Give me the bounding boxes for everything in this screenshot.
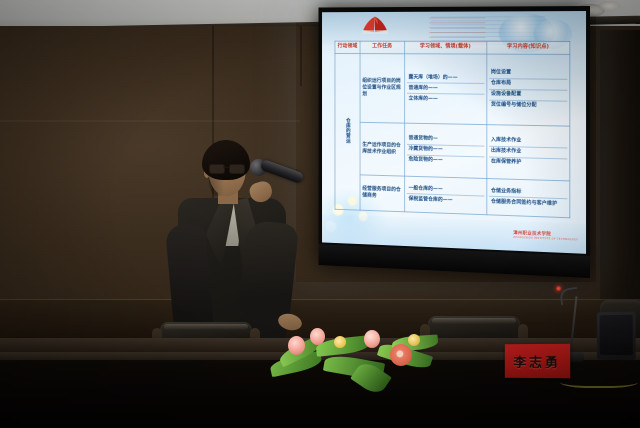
projection-screen-surface: 行动领域 工作任务 学习领域、情境(载体) 学习内容(知识点) 仓库的营运 组织… bbox=[322, 11, 586, 254]
situation-cell: 露天库（堆场）的—— 普通库的—— 立体库的—— bbox=[404, 54, 486, 125]
yellow-accent-flower bbox=[408, 334, 420, 346]
header-action-field: 行动领域 bbox=[335, 41, 360, 53]
eyeglass-lens-right bbox=[229, 164, 245, 174]
situation-cell: 一般仓库的—— 保税监管仓库的—— bbox=[404, 176, 486, 215]
knowledge-item: 在库保管养护 bbox=[489, 157, 567, 169]
rose-flower bbox=[364, 330, 380, 348]
situation-item: 保税监管仓库的—— bbox=[407, 194, 485, 206]
header-work-task: 工作任务 bbox=[360, 41, 404, 54]
task-cell: 组织运行项目的岗位设置与作业区规划 bbox=[360, 54, 404, 123]
name-card-text: 李志勇 bbox=[513, 351, 561, 370]
situation-item: 危险货物的—— bbox=[407, 155, 485, 167]
conference-presentation-photo: 行动领域 工作任务 学习领域、情境(载体) 学习内容(知识点) 仓库的营运 组织… bbox=[0, 0, 640, 428]
handheld-microphone-body-icon bbox=[259, 159, 304, 184]
red-book-flame-logo-icon bbox=[360, 16, 391, 37]
situation-cell: 普通货物的— 冷藏货物的—— 危险货物的—— bbox=[404, 123, 486, 178]
floral-arrangement bbox=[268, 330, 448, 386]
knowledge-item: 岗位设置 bbox=[489, 68, 567, 79]
yellow-accent-flower bbox=[334, 336, 346, 348]
knowledge-item: 货位编号与储位分配 bbox=[489, 101, 567, 112]
wall-panel-seam bbox=[0, 120, 300, 122]
eyeglasses-icon bbox=[209, 164, 245, 172]
slide-decorative-red-lines bbox=[429, 17, 485, 42]
vertical-title-cell: 仓库的营运 bbox=[335, 53, 360, 210]
laptop-screen bbox=[600, 315, 633, 356]
laptop-computer[interactable] bbox=[597, 312, 636, 361]
chair-highlight bbox=[164, 324, 248, 330]
rose-flower bbox=[310, 328, 325, 345]
ceiling-downlight-secondary-icon bbox=[598, 1, 620, 11]
table-header-row: 行动领域 工作任务 学习领域、情境(载体) 学习内容(知识点) bbox=[335, 41, 570, 54]
cable bbox=[560, 374, 638, 388]
knowledge-cell: 入库技术作业 出库技术作业 在库保管养护 bbox=[487, 124, 570, 180]
situation-item: 立体库的—— bbox=[407, 94, 485, 105]
header-learning-situation: 学习领域、情境(载体) bbox=[404, 41, 486, 54]
name-card: 李志勇 bbox=[505, 344, 570, 379]
speaker-hair bbox=[202, 140, 250, 180]
wall-panel-seam bbox=[300, 26, 302, 86]
knowledge-cell: 仓储业务指标 仓储服务合同签约与客户维护 bbox=[487, 178, 570, 218]
wall-right-shadow bbox=[600, 30, 640, 310]
situation-item: 露天库（堆场）的—— bbox=[407, 73, 485, 84]
gerbera-flower bbox=[390, 344, 412, 366]
microphone-led-indicator bbox=[556, 286, 561, 291]
knowledge-item: 仓库布局 bbox=[489, 79, 567, 91]
table-row: 仓库的营运 组织运行项目的岗位设置与作业区规划 露天库（堆场）的—— 普通库的—… bbox=[335, 53, 570, 125]
chair-highlight bbox=[432, 318, 516, 324]
table-row: 生产运作项目的仓库技术作业组织 普通货物的— 冷藏货物的—— 危险货物的—— 入… bbox=[335, 122, 570, 181]
projection-screen: 行动领域 工作任务 学习领域、情境(载体) 学习内容(知识点) 仓库的营运 组织… bbox=[318, 6, 590, 278]
eyeglass-lens-left bbox=[209, 164, 225, 174]
knowledge-cell: 岗位设置 仓库布局 设施设备配置 货位编号与储位分配 bbox=[487, 54, 570, 126]
task-cell: 生产运作项目的仓库技术作业组织 bbox=[360, 122, 404, 175]
header-learning-content: 学习内容(知识点) bbox=[487, 41, 570, 54]
slide-content-table: 行动领域 工作任务 学习领域、情境(载体) 学习内容(知识点) 仓库的营运 组织… bbox=[335, 41, 571, 219]
knowledge-item: 仓储服务合同签约与客户维护 bbox=[489, 197, 567, 210]
speaker-arm-right bbox=[237, 220, 300, 329]
rose-flower bbox=[288, 336, 305, 355]
vertical-title-text: 仓库的营运 bbox=[344, 118, 350, 143]
presentation-slide: 行动领域 工作任务 学习领域、情境(载体) 学习内容(知识点) 仓库的营运 组织… bbox=[322, 11, 586, 254]
task-cell: 经营服务项目的仓储商务 bbox=[360, 174, 404, 211]
